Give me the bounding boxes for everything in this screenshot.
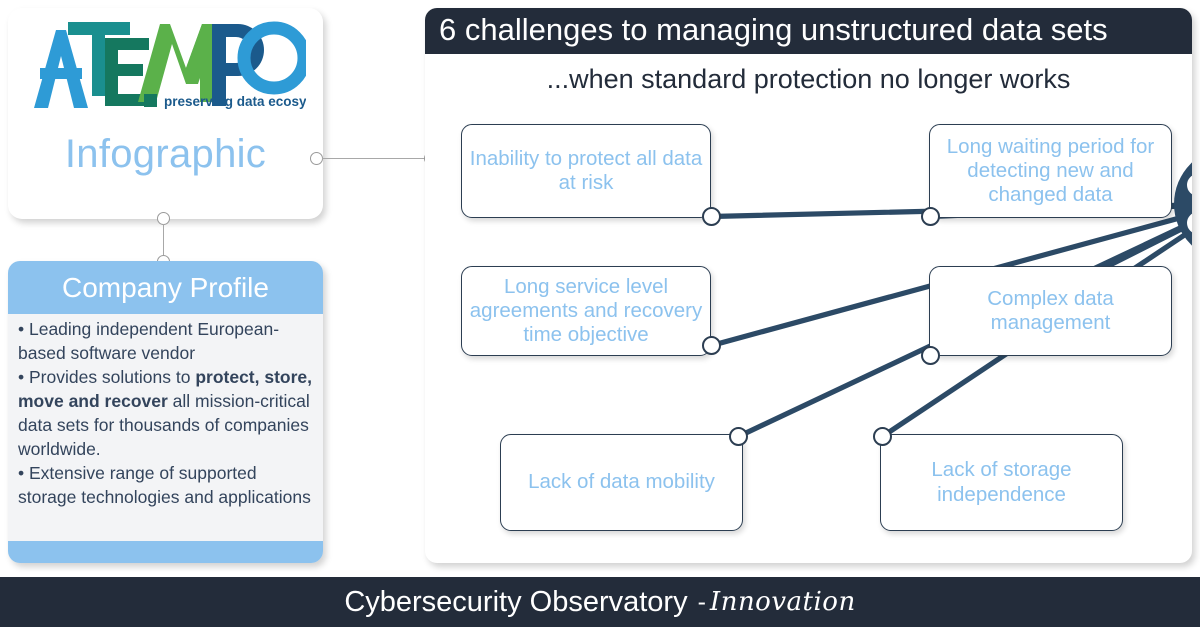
- profile-bullet-2-prefix: • Provides solutions to: [18, 367, 195, 387]
- infographic-canvas: preserving data ecosystems Infographic C…: [0, 0, 1200, 627]
- challenge-label-3: Long service level agreements and recove…: [462, 275, 710, 348]
- company-profile-header: Company Profile: [8, 261, 323, 314]
- atempo-logo: preserving data ecosystems: [8, 16, 323, 124]
- node-dot-3: [702, 336, 721, 355]
- company-profile-card: Company Profile • Leading independent Eu…: [8, 261, 323, 563]
- connector-line-logo-to-panel: [322, 158, 427, 159]
- profile-bullet-3-text: • Extensive range of supported storage t…: [18, 463, 311, 507]
- challenge-label-5: Lack of data mobility: [501, 470, 742, 494]
- main-panel: 6 challenges to managing unstructured da…: [425, 8, 1192, 563]
- node-dot-4: [921, 346, 940, 365]
- company-profile-body: • Leading independent European-based sof…: [8, 314, 323, 510]
- footer-separator: -: [698, 588, 706, 617]
- challenge-box-lack-of-storage-independence[interactable]: Lack of storage independence: [880, 434, 1123, 531]
- profile-bullet-3: • Extensive range of supported storage t…: [18, 462, 313, 510]
- atempo-logo-icon: preserving data ecosystems: [26, 16, 306, 116]
- challenge-box-long-sla-rto[interactable]: Long service level agreements and recove…: [461, 266, 711, 356]
- footer-bar: Cybersecurity Observatory - Innovation: [0, 577, 1200, 627]
- challenges-diagram: Inability to protect all data at risk Lo…: [425, 104, 1192, 563]
- company-profile-accent-strip: [8, 541, 323, 563]
- profile-bullet-2: • Provides solutions to protect, store, …: [18, 366, 313, 462]
- challenge-box-complex-data-management[interactable]: Complex data management: [929, 266, 1172, 356]
- challenge-label-2: Long waiting period for detecting new an…: [930, 135, 1171, 208]
- challenge-box-long-waiting-period[interactable]: Long waiting period for detecting new an…: [929, 124, 1172, 218]
- node-dot-2: [921, 207, 940, 226]
- logo-card: preserving data ecosystems Infographic: [8, 8, 323, 219]
- connector-line-logo-to-profile: [163, 224, 164, 256]
- node-dot-6: [873, 427, 892, 446]
- challenge-box-lack-of-data-mobility[interactable]: Lack of data mobility: [500, 434, 743, 531]
- panel-title: 6 challenges to managing unstructured da…: [425, 8, 1192, 54]
- node-dot-5: [729, 427, 748, 446]
- panel-subtitle: ...when standard protection no longer wo…: [425, 54, 1192, 104]
- infographic-label: Infographic: [8, 132, 323, 177]
- profile-bullet-1: • Leading independent European-based sof…: [18, 318, 313, 366]
- footer-title: Cybersecurity Observatory: [344, 586, 687, 619]
- challenge-label-1: Inability to protect all data at risk: [462, 147, 710, 195]
- footer-script-word: Innovation: [710, 587, 856, 617]
- logo-tagline-text: preserving data ecosystems: [164, 94, 306, 109]
- challenge-box-inability-to-protect[interactable]: Inability to protect all data at risk: [461, 124, 711, 218]
- network-hub-icon: [1172, 145, 1192, 263]
- challenge-label-4: Complex data management: [930, 287, 1171, 335]
- node-dot-1: [702, 207, 721, 226]
- challenge-label-6: Lack of storage independence: [881, 458, 1122, 506]
- profile-bullet-1-text: • Leading independent European-based sof…: [18, 319, 279, 363]
